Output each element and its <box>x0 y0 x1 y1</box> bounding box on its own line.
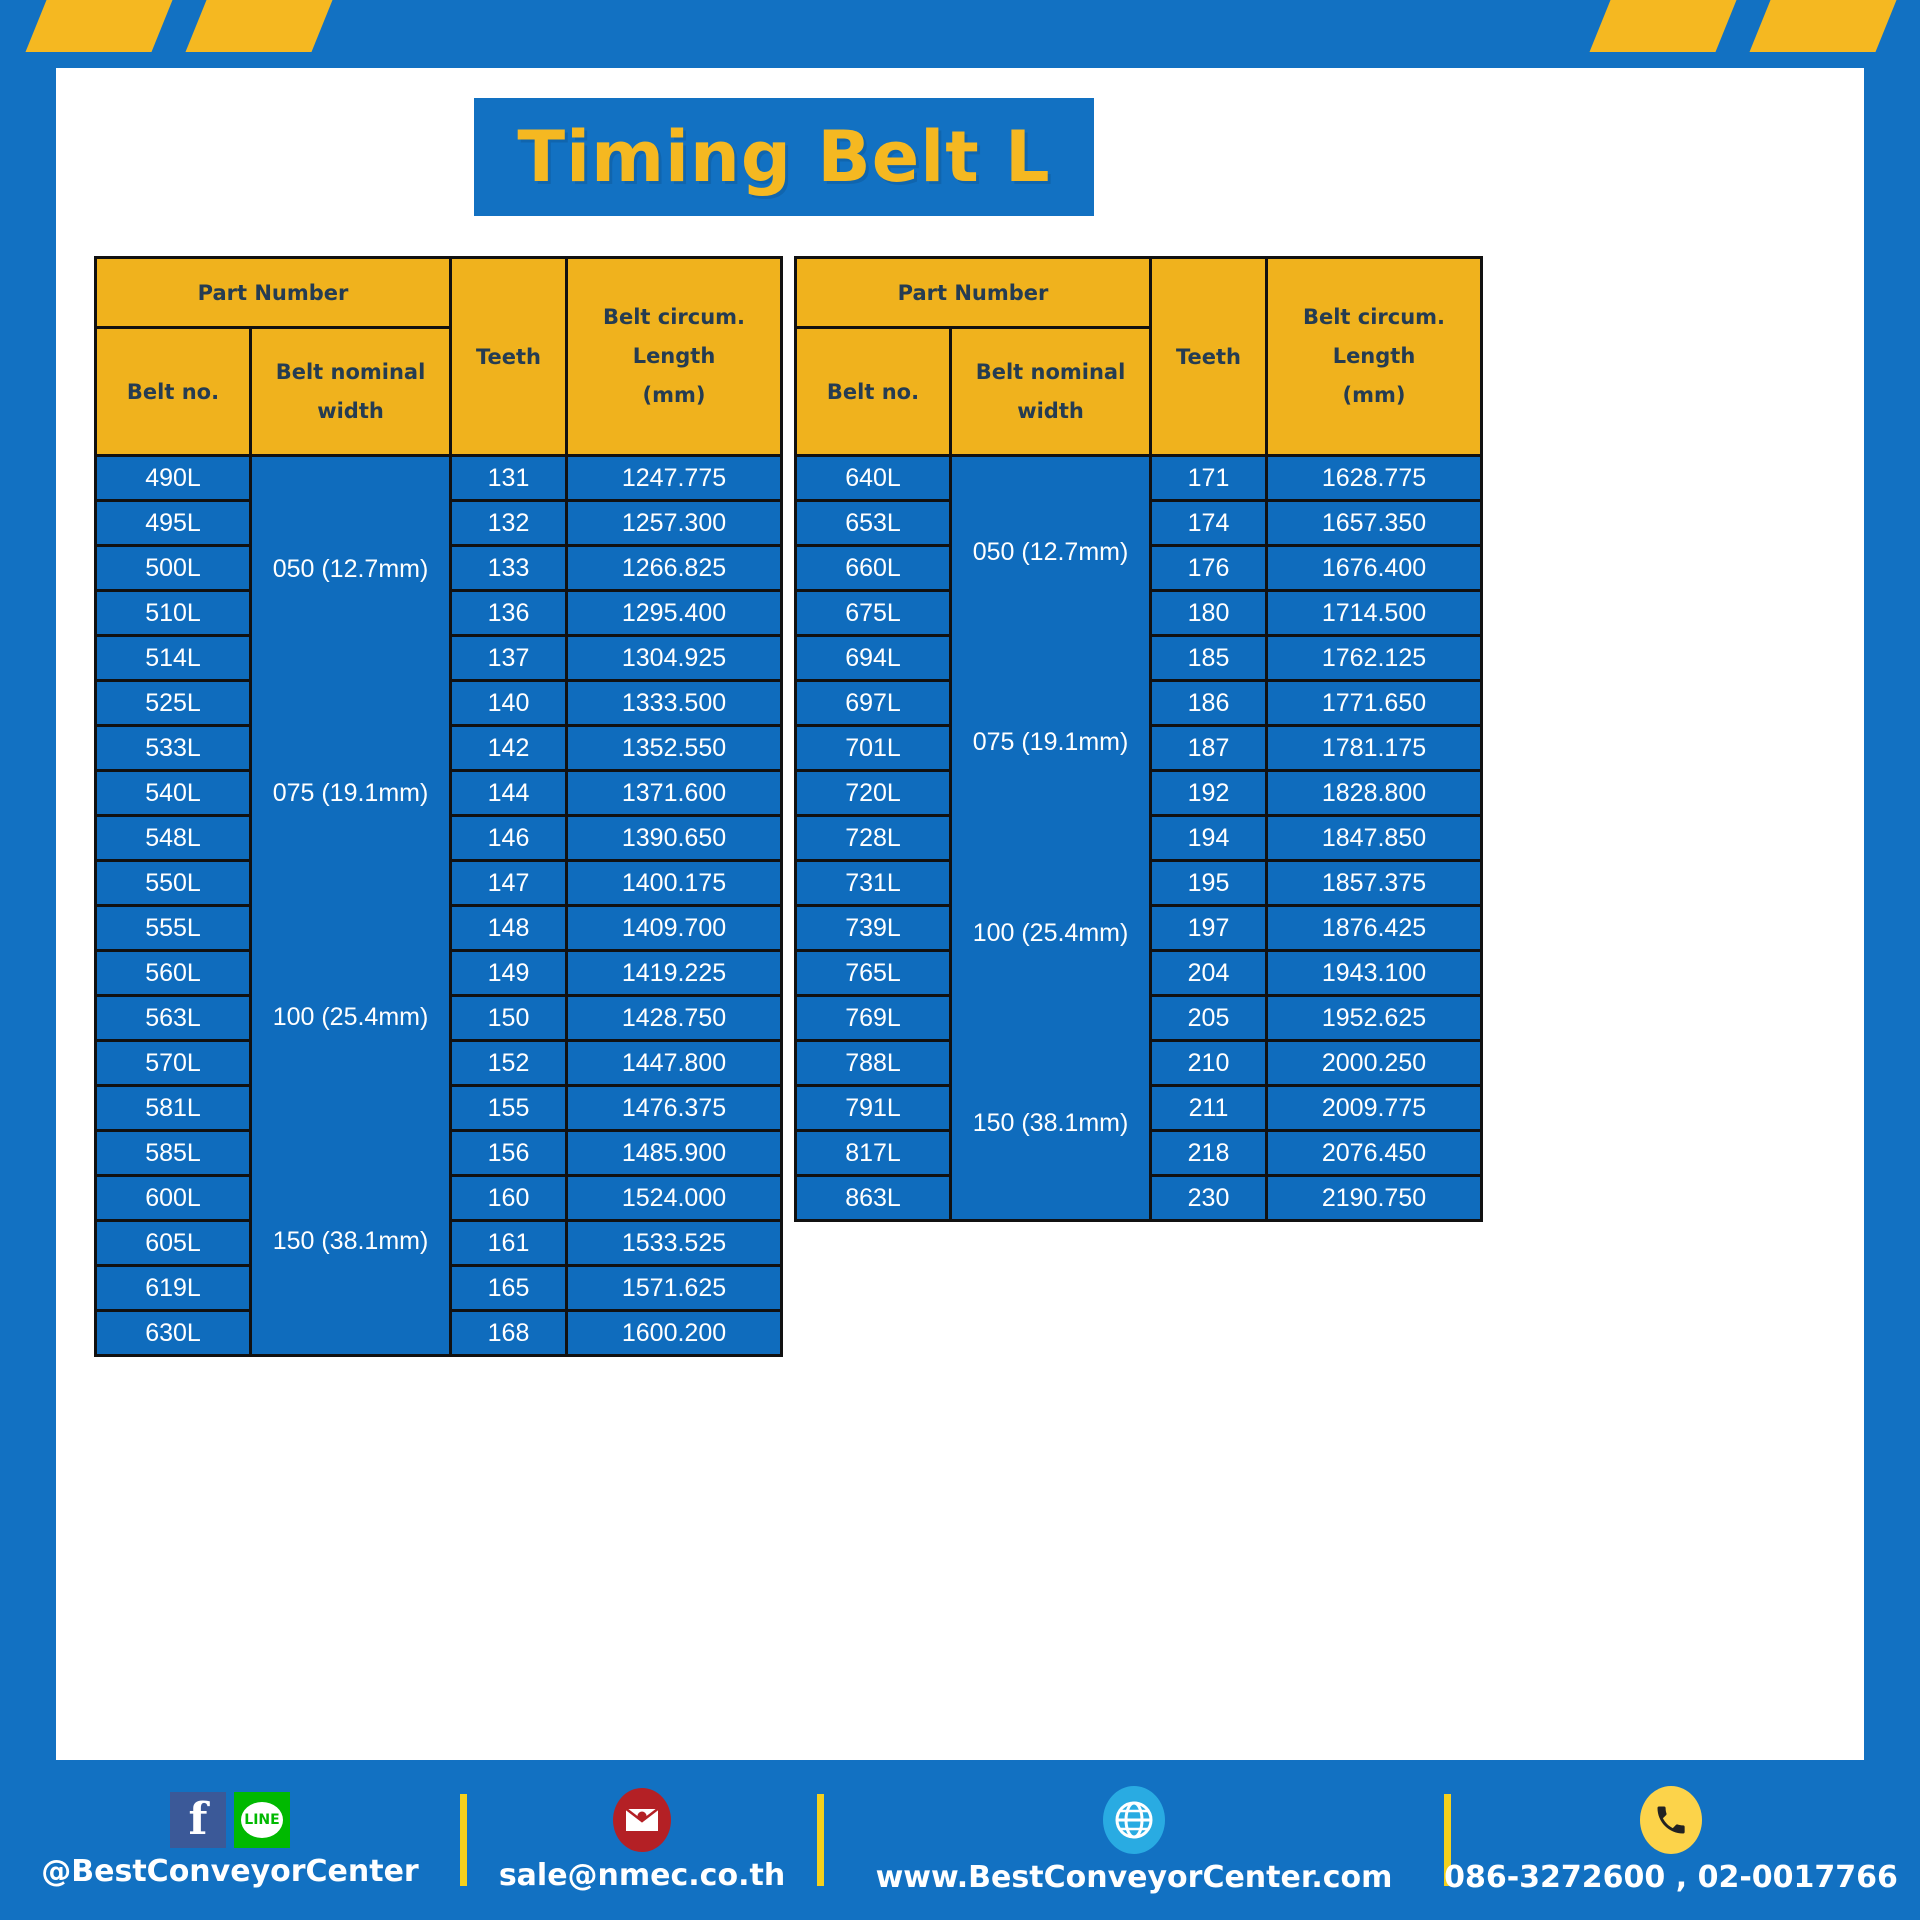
th-teeth-left: Teeth <box>451 258 567 456</box>
table-left-head: Part Number Teeth Belt circum. Length (m… <box>96 258 782 456</box>
cell-length: 1247.775 <box>567 456 782 501</box>
th-part-number-right: Part Number <box>796 258 1151 328</box>
cell-belt-no: 788L <box>796 1041 951 1086</box>
width-option: 050 (12.7mm) <box>254 533 447 606</box>
top-decoration-bar <box>0 0 1920 52</box>
cell-teeth: 205 <box>1151 996 1267 1041</box>
cell-belt-no: 640L <box>796 456 951 501</box>
cell-belt-no: 791L <box>796 1086 951 1131</box>
decor-slash-4 <box>1749 0 1896 52</box>
cell-length: 2190.750 <box>1267 1176 1482 1221</box>
th-belt-no-right: Belt no. <box>796 328 951 456</box>
cell-belt-no: 540L <box>96 771 251 816</box>
cell-length: 1428.750 <box>567 996 782 1041</box>
belt-table-right: Part Number Teeth Belt circum. Length (m… <box>794 256 1483 1222</box>
cell-teeth: 142 <box>451 726 567 771</box>
cell-belt-no: 675L <box>796 591 951 636</box>
th-length-label-left: Length <box>570 337 778 376</box>
width-option: 075 (19.1mm) <box>954 706 1147 779</box>
cell-length: 1295.400 <box>567 591 782 636</box>
cell-length: 1657.350 <box>1267 501 1482 546</box>
cell-length: 1390.650 <box>567 816 782 861</box>
cell-length: 1600.200 <box>567 1311 782 1356</box>
cell-belt-no: 701L <box>796 726 951 771</box>
width-option: 100 (25.4mm) <box>254 981 447 1054</box>
cell-length: 2076.450 <box>1267 1131 1482 1176</box>
cell-length: 1400.175 <box>567 861 782 906</box>
cell-teeth: 150 <box>451 996 567 1041</box>
belt-table-right-wrapper: Part Number Teeth Belt circum. Length (m… <box>794 256 1480 1222</box>
cell-belt-no: 694L <box>796 636 951 681</box>
cell-teeth: 165 <box>451 1266 567 1311</box>
line-glyph: LINE <box>241 1802 283 1838</box>
cell-length: 1857.375 <box>1267 861 1482 906</box>
cell-teeth: 186 <box>1151 681 1267 726</box>
cell-belt-no: 525L <box>96 681 251 726</box>
cell-teeth: 152 <box>451 1041 567 1086</box>
cell-belt-no: 600L <box>96 1176 251 1221</box>
cell-length: 1714.500 <box>1267 591 1482 636</box>
th-belt-nominal-label-left: Belt nominal <box>254 353 447 392</box>
cell-teeth: 136 <box>451 591 567 636</box>
cell-belt-no: 550L <box>96 861 251 906</box>
page-title: Timing Belt L <box>517 116 1050 198</box>
cell-belt-no: 653L <box>796 501 951 546</box>
cell-length: 1447.800 <box>567 1041 782 1086</box>
cell-teeth: 146 <box>451 816 567 861</box>
cell-length: 1771.650 <box>1267 681 1482 726</box>
cell-teeth: 197 <box>1151 906 1267 951</box>
cell-belt-no: 619L <box>96 1266 251 1311</box>
cell-teeth: 148 <box>451 906 567 951</box>
width-option: 100 (25.4mm) <box>954 897 1147 970</box>
th-belt-circum-label-left: Belt circum. <box>570 298 778 337</box>
footer-website[interactable]: www.BestConveyorCenter.com <box>824 1786 1444 1895</box>
cell-length: 1485.900 <box>567 1131 782 1176</box>
cell-belt-no: 555L <box>96 906 251 951</box>
th-belt-nominal-width-right: Belt nominal width <box>951 328 1151 456</box>
globe-glyph <box>1112 1798 1156 1842</box>
th-belt-nominal-width-left: Belt nominal width <box>251 328 451 456</box>
phone-icon[interactable] <box>1640 1786 1702 1854</box>
cell-teeth: 132 <box>451 501 567 546</box>
decor-slash-3 <box>1589 0 1736 52</box>
cell-length: 1352.550 <box>567 726 782 771</box>
cell-teeth: 137 <box>451 636 567 681</box>
cell-length: 1266.825 <box>567 546 782 591</box>
cell-teeth: 185 <box>1151 636 1267 681</box>
cell-length: 1371.600 <box>567 771 782 816</box>
cell-belt-no: 548L <box>96 816 251 861</box>
th-belt-circum-label-right: Belt circum. <box>1270 298 1478 337</box>
width-options-stack: 050 (12.7mm)075 (19.1mm)100 (25.4mm)150 … <box>254 457 447 1354</box>
footer-divider-1 <box>460 1794 467 1886</box>
cell-teeth: 131 <box>451 456 567 501</box>
decor-slash-1 <box>25 0 172 52</box>
footer-divider-2 <box>817 1794 824 1886</box>
cell-belt-nominal-width: 050 (12.7mm)075 (19.1mm)100 (25.4mm)150 … <box>251 456 451 1356</box>
cell-length: 2009.775 <box>1267 1086 1482 1131</box>
cell-teeth: 149 <box>451 951 567 996</box>
cell-teeth: 211 <box>1151 1086 1267 1131</box>
cell-teeth: 171 <box>1151 456 1267 501</box>
cell-belt-no: 739L <box>796 906 951 951</box>
cell-teeth: 187 <box>1151 726 1267 771</box>
th-mm-label-left: (mm) <box>570 376 778 415</box>
cell-teeth: 156 <box>451 1131 567 1176</box>
th-belt-circum-left: Belt circum. Length (mm) <box>567 258 782 456</box>
cell-length: 1571.625 <box>567 1266 782 1311</box>
footer-phone[interactable]: 086-3272600 , 02-0017766 <box>1451 1786 1891 1895</box>
cell-length: 1847.850 <box>1267 816 1482 861</box>
cell-belt-no: 863L <box>796 1176 951 1221</box>
footer-email[interactable]: sale@nmec.co.th <box>467 1788 817 1893</box>
th-teeth-right: Teeth <box>1151 258 1267 456</box>
email-icon[interactable] <box>613 1788 671 1852</box>
cell-length: 1257.300 <box>567 501 782 546</box>
footer-website-url: www.BestConveyorCenter.com <box>876 1860 1393 1895</box>
cell-length: 1762.125 <box>1267 636 1482 681</box>
table-right-head: Part Number Teeth Belt circum. Length (m… <box>796 258 1482 456</box>
cell-belt-no: 560L <box>96 951 251 996</box>
th-width-label-right: width <box>954 392 1147 431</box>
cell-teeth: 147 <box>451 861 567 906</box>
th-belt-nominal-label-right: Belt nominal <box>954 353 1147 392</box>
th-width-label-left: width <box>254 392 447 431</box>
cell-length: 2000.250 <box>1267 1041 1482 1086</box>
decor-slash-2 <box>185 0 332 52</box>
cell-teeth: 155 <box>451 1086 567 1131</box>
cell-length: 1628.775 <box>1267 456 1482 501</box>
cell-belt-no: 495L <box>96 501 251 546</box>
cell-belt-no: 490L <box>96 456 251 501</box>
cell-teeth: 192 <box>1151 771 1267 816</box>
table-row: 640L050 (12.7mm)075 (19.1mm)100 (25.4mm)… <box>796 456 1482 501</box>
cell-belt-nominal-width: 050 (12.7mm)075 (19.1mm)100 (25.4mm)150 … <box>951 456 1151 1221</box>
cell-teeth: 194 <box>1151 816 1267 861</box>
phone-glyph <box>1653 1802 1689 1838</box>
th-length-label-right: Length <box>1270 337 1478 376</box>
cell-belt-no: 514L <box>96 636 251 681</box>
cell-teeth: 168 <box>451 1311 567 1356</box>
table-right-body: 640L050 (12.7mm)075 (19.1mm)100 (25.4mm)… <box>796 456 1482 1221</box>
cell-teeth: 210 <box>1151 1041 1267 1086</box>
th-part-number-left: Part Number <box>96 258 451 328</box>
th-mm-label-right: (mm) <box>1270 376 1478 415</box>
th-belt-circum-right: Belt circum. Length (mm) <box>1267 258 1482 456</box>
cell-teeth: 176 <box>1151 546 1267 591</box>
cell-belt-no: 510L <box>96 591 251 636</box>
cell-teeth: 230 <box>1151 1176 1267 1221</box>
cell-belt-no: 769L <box>796 996 951 1041</box>
cell-length: 1952.625 <box>1267 996 1482 1041</box>
width-options-stack: 050 (12.7mm)075 (19.1mm)100 (25.4mm)150 … <box>954 457 1147 1219</box>
width-option: 075 (19.1mm) <box>254 757 447 830</box>
cell-length: 1419.225 <box>567 951 782 996</box>
cell-length: 1333.500 <box>567 681 782 726</box>
footer-phone-number: 086-3272600 , 02-0017766 <box>1444 1860 1898 1895</box>
table-left-body: 490L050 (12.7mm)075 (19.1mm)100 (25.4mm)… <box>96 456 782 1356</box>
cell-belt-no: 570L <box>96 1041 251 1086</box>
cell-length: 1304.925 <box>567 636 782 681</box>
cell-length: 1409.700 <box>567 906 782 951</box>
cell-length: 1781.175 <box>1267 726 1482 771</box>
cell-belt-no: 697L <box>796 681 951 726</box>
cell-teeth: 204 <box>1151 951 1267 996</box>
cell-belt-no: 630L <box>96 1311 251 1356</box>
cell-teeth: 133 <box>451 546 567 591</box>
th-belt-no-left: Belt no. <box>96 328 251 456</box>
width-option: 150 (38.1mm) <box>254 1205 447 1278</box>
footer-social-handle: @BestConveyorCenter <box>41 1854 418 1889</box>
facebook-glyph: f <box>189 1798 208 1842</box>
cell-belt-no: 720L <box>796 771 951 816</box>
width-option: 150 (38.1mm) <box>954 1087 1147 1160</box>
cell-length: 1524.000 <box>567 1176 782 1221</box>
cell-belt-no: 605L <box>96 1221 251 1266</box>
cell-belt-no: 728L <box>796 816 951 861</box>
facebook-icon[interactable]: f <box>170 1792 226 1848</box>
cell-belt-no: 585L <box>96 1131 251 1176</box>
cell-teeth: 140 <box>451 681 567 726</box>
cell-length: 1828.800 <box>1267 771 1482 816</box>
page-title-banner: Timing Belt L <box>474 98 1094 216</box>
cell-teeth: 161 <box>451 1221 567 1266</box>
cell-teeth: 174 <box>1151 501 1267 546</box>
footer-social[interactable]: f LINE @BestConveyorCenter <box>0 1792 460 1889</box>
width-option: 050 (12.7mm) <box>954 516 1147 589</box>
cell-belt-no: 533L <box>96 726 251 771</box>
cell-teeth: 195 <box>1151 861 1267 906</box>
cell-belt-no: 817L <box>796 1131 951 1176</box>
cell-teeth: 218 <box>1151 1131 1267 1176</box>
cell-teeth: 180 <box>1151 591 1267 636</box>
belt-table-left-wrapper: Part Number Teeth Belt circum. Length (m… <box>94 256 780 1357</box>
cell-belt-no: 563L <box>96 996 251 1041</box>
cell-belt-no: 500L <box>96 546 251 591</box>
cell-belt-no: 731L <box>796 861 951 906</box>
cell-belt-no: 765L <box>796 951 951 996</box>
cell-teeth: 160 <box>451 1176 567 1221</box>
cell-teeth: 144 <box>451 771 567 816</box>
footer-email-address: sale@nmec.co.th <box>499 1858 785 1893</box>
globe-icon[interactable] <box>1103 1786 1165 1854</box>
cell-length: 1943.100 <box>1267 951 1482 996</box>
footer-social-icons: f LINE <box>170 1792 290 1848</box>
cell-length: 1533.525 <box>567 1221 782 1266</box>
belt-table-left: Part Number Teeth Belt circum. Length (m… <box>94 256 783 1357</box>
cell-length: 1476.375 <box>567 1086 782 1131</box>
table-row: 490L050 (12.7mm)075 (19.1mm)100 (25.4mm)… <box>96 456 782 501</box>
envelope-glyph <box>624 1807 660 1833</box>
contact-footer: f LINE @BestConveyorCenter sale@nmec.co.… <box>0 1760 1920 1920</box>
cell-length: 1876.425 <box>1267 906 1482 951</box>
cell-length: 1676.400 <box>1267 546 1482 591</box>
cell-belt-no: 581L <box>96 1086 251 1131</box>
line-icon[interactable]: LINE <box>234 1792 290 1848</box>
cell-belt-no: 660L <box>796 546 951 591</box>
content-card: Timing Belt L Part Number Teeth Belt cir… <box>56 68 1864 1760</box>
